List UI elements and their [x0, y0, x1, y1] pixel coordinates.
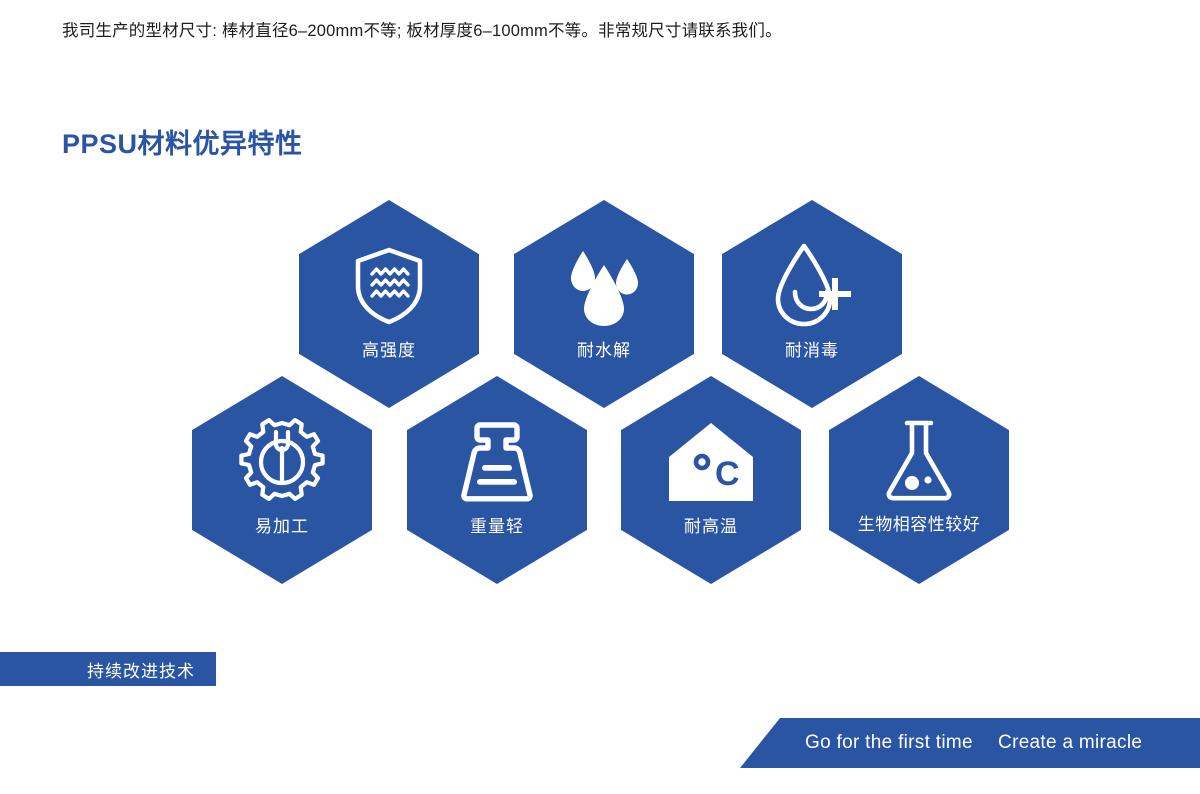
continuous-improvement-tag[interactable]: 持续改进技术 [0, 652, 216, 686]
slogan-banner: Go for the first time Create a miracle [740, 718, 1200, 768]
water-drops-icon [514, 238, 694, 334]
feature-label: 耐消毒 [722, 336, 902, 361]
slogan-part-two: Create a miracle [998, 732, 1142, 753]
feature-label: 高强度 [299, 336, 479, 361]
gear-wrench-icon [192, 414, 372, 510]
feature-hex-hydrolysis-resistant[interactable]: 耐水解 [514, 200, 694, 408]
feature-hex-easy-machining[interactable]: 易加工 [192, 376, 372, 584]
slogan-part-one: Go for the first time [805, 732, 973, 753]
feature-hex-sterilization-resistant[interactable]: 耐消毒 [722, 200, 902, 408]
feature-hex-lightweight[interactable]: 重量轻 [407, 376, 587, 584]
flask-icon [829, 414, 1009, 510]
feature-label: 耐高温 [621, 512, 801, 537]
feature-label: 生物相容性较好 [819, 510, 1019, 535]
svg-text:C: C [715, 455, 740, 493]
tag-bar-label: 持续改进技术 [87, 657, 195, 682]
slogan-text-group: Go for the first time Create a miracle [805, 732, 1142, 754]
page-title: PPSU材料优异特性 [62, 122, 303, 161]
intro-paragraph: 我司生产的型材尺寸: 棒材直径6–200mm不等; 板材厚度6–100mm不等。… [62, 18, 782, 44]
shield-waves-icon [299, 238, 479, 334]
feature-hex-biocompatible[interactable]: 生物相容性较好 [829, 376, 1009, 584]
droplet-plus-icon [722, 238, 902, 334]
feature-label: 重量轻 [407, 512, 587, 537]
feature-label: 易加工 [192, 512, 372, 537]
feature-label: 耐水解 [514, 336, 694, 361]
house-celsius-icon: C [621, 414, 801, 510]
weight-icon [407, 414, 587, 510]
feature-hex-heat-resistant[interactable]: C 耐高温 [621, 376, 801, 584]
feature-hex-high-strength[interactable]: 高强度 [299, 200, 479, 408]
